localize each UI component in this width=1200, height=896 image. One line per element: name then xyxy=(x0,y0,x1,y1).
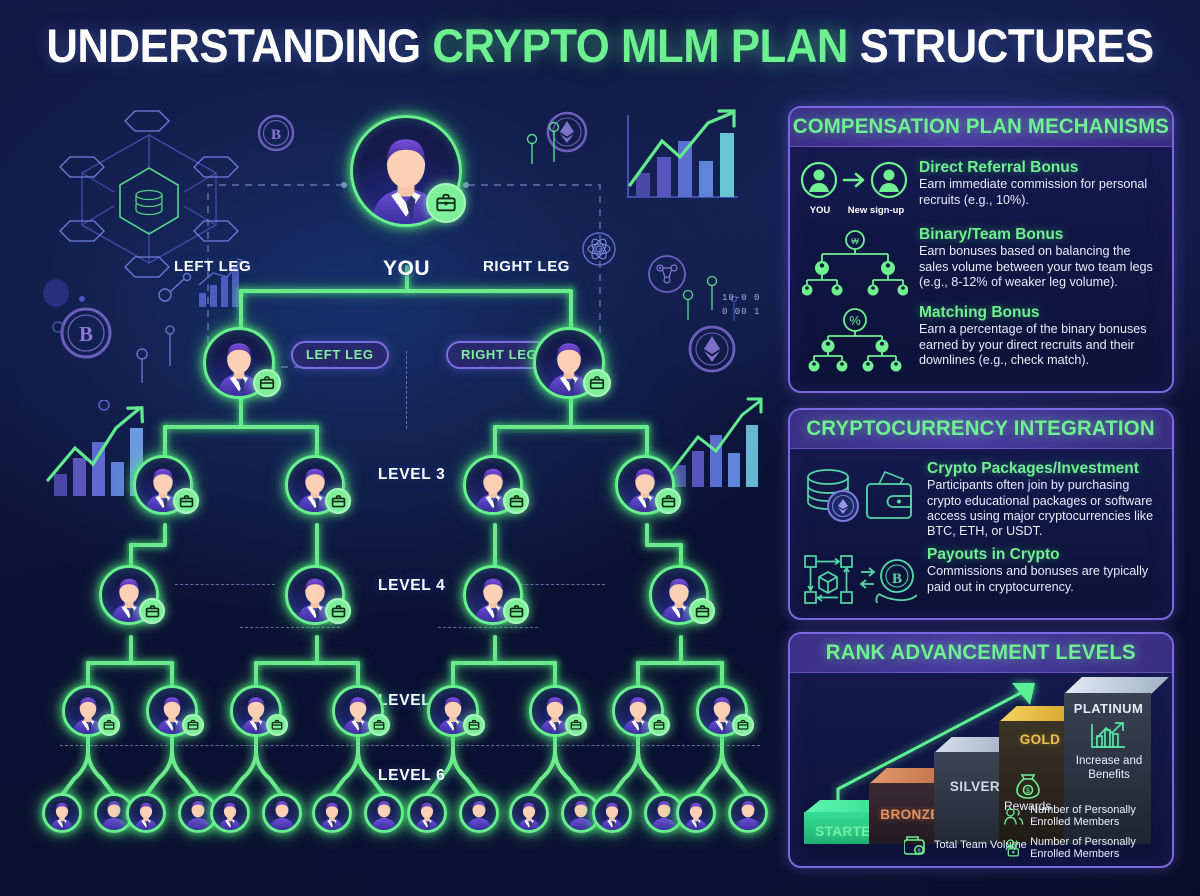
tree-node-level5-6[interactable] xyxy=(529,685,581,737)
tree-node-level5-4[interactable] xyxy=(332,685,384,737)
edge-l3n4-jog xyxy=(645,543,683,547)
edge-l3-n4-drop xyxy=(645,425,649,457)
panel-title: RANK ADVANCEMENT LEVELS xyxy=(826,641,1136,665)
tree-node-level6-8[interactable] xyxy=(364,793,404,833)
edge-l5-bus-3 xyxy=(451,661,557,665)
tree-node-level2-left[interactable] xyxy=(203,327,275,399)
avatar xyxy=(367,796,401,830)
volume-box-icon: $ xyxy=(904,834,928,856)
briefcase-badge xyxy=(689,598,715,624)
avatar xyxy=(731,796,765,830)
tree-node-you[interactable] xyxy=(350,115,462,227)
comp-item-heading: Matching Bonus xyxy=(919,304,1162,321)
comp-item-body: Earn a percentage of the binary bonuses … xyxy=(919,322,1162,368)
tree-node-level4-3[interactable] xyxy=(463,565,523,625)
briefcase-icon xyxy=(331,494,346,509)
briefcase-badge xyxy=(266,714,288,736)
edge-level2-bus xyxy=(239,289,573,293)
edge-l5n6-drop xyxy=(553,661,557,687)
rank-chart: STARTER BRONZE SILVER GOLD xyxy=(790,673,1172,859)
briefcase-icon xyxy=(331,604,346,619)
legend-label: Number of Personally Enrolled Members xyxy=(1030,804,1172,829)
comp-item-heading: Binary/Team Bonus xyxy=(919,226,1162,243)
node-ring xyxy=(592,793,632,833)
panel-title: COMPENSATION PLAN MECHANISMS xyxy=(793,115,1169,139)
growth-chart-decoration-top-right xyxy=(616,109,744,214)
platinum-note: Increase and Benefits xyxy=(1068,755,1150,783)
tree-node-level5-7[interactable] xyxy=(612,685,664,737)
briefcase-icon xyxy=(468,719,480,731)
edge-l5n5-drop xyxy=(451,661,455,687)
tree-node-level6-6[interactable] xyxy=(262,793,302,833)
node-ring xyxy=(262,793,302,833)
avatar xyxy=(679,796,713,830)
panel-title: CRYPTOCURRENCY INTEGRATION xyxy=(807,417,1155,441)
tree-node-level4-2[interactable] xyxy=(285,565,345,625)
right-leg-label: RIGHT LEG xyxy=(483,258,570,275)
page-title: UNDERSTANDING CRYPTO MLM PLAN STRUCTURES xyxy=(42,18,1158,73)
briefcase-badge xyxy=(325,488,351,514)
divider-level45-right xyxy=(438,627,538,628)
crypto-item-packages: Crypto Packages/Investment Participants … xyxy=(790,460,1172,540)
svg-text:₩: ₩ xyxy=(851,237,859,246)
bitcoin-coin-decoration-top: B xyxy=(256,113,296,153)
bitcoin-coin-decoration-left: B xyxy=(58,305,114,361)
level-3-label: LEVEL 3 xyxy=(378,466,446,484)
briefcase-badge xyxy=(503,488,529,514)
node-ring xyxy=(459,793,499,833)
tree-node-level5-2[interactable] xyxy=(146,685,198,737)
briefcase-icon xyxy=(737,719,749,731)
ethereum-coin-decoration-top xyxy=(545,110,589,154)
avatar xyxy=(129,796,163,830)
briefcase-badge xyxy=(463,714,485,736)
edge-l4n4-stem xyxy=(679,635,683,663)
panel-crypto-integration: CRYPTOCURRENCY INTEGRATION xyxy=(788,408,1174,620)
money-bag-icon: $ xyxy=(1014,773,1042,799)
pin-dots-decoration-right2 xyxy=(672,273,752,343)
edge-l3-right-bus xyxy=(493,425,649,429)
icon-caption-you: YOU xyxy=(800,205,840,216)
comp-item-text: Binary/Team Bonus Earn bonuses based on … xyxy=(919,226,1162,296)
tree-node-level6-11[interactable] xyxy=(509,793,549,833)
briefcase-icon xyxy=(187,719,199,731)
briefcase-icon xyxy=(145,604,160,619)
edge-l5-bus-2 xyxy=(254,661,360,665)
root-label: YOU xyxy=(383,257,430,281)
crypto-item-text: Payouts in Crypto Commissions and bonuse… xyxy=(927,546,1162,610)
svg-text:B: B xyxy=(271,127,281,143)
briefcase-badge xyxy=(732,714,754,736)
comp-item-heading: Direct Referral Bonus xyxy=(919,159,1162,176)
comp-item-binary-bonus: ₩ Binary/Team Bonus Earn bonuses based xyxy=(790,226,1172,296)
people-icon xyxy=(1004,803,1024,829)
briefcase-badge xyxy=(655,488,681,514)
panel-rank-advancement: RANK ADVANCEMENT LEVELS STARTER BRONZE xyxy=(788,632,1174,868)
edge-l3n1-stem xyxy=(163,523,167,545)
node-ring xyxy=(364,793,404,833)
edge-l5-bus-1 xyxy=(86,661,174,665)
comp-item-direct-referral: YOU New sign-up Direct Referral Bonus Ea… xyxy=(790,159,1172,216)
avatar xyxy=(265,796,299,830)
network-nodes-decoration xyxy=(646,253,688,295)
edge-l3n2-stem xyxy=(315,523,319,567)
briefcase-icon xyxy=(695,604,710,619)
avatar xyxy=(512,796,546,830)
comp-item-text: Direct Referral Bonus Earn immediate com… xyxy=(919,159,1162,216)
level-4-label: LEVEL 4 xyxy=(378,577,446,595)
edge-l5n1-drop xyxy=(86,661,90,687)
rank-legend-enrolled-members-1: Number of Personally Enrolled Members xyxy=(1004,803,1172,829)
tree-node-level6-9[interactable] xyxy=(407,793,447,833)
rank-legend-enrolled-members-2: Number of Personally Enrolled Members xyxy=(1004,835,1172,861)
crypto-item-heading: Crypto Packages/Investment xyxy=(927,460,1162,477)
crypto-item-body: Participants often join by purchasing cr… xyxy=(927,478,1162,539)
edge-l4n4-drop xyxy=(679,543,683,567)
growth-chart-icon xyxy=(1088,721,1128,751)
tree-node-level5-1[interactable] xyxy=(62,685,114,737)
ethereum-coin-decoration-right xyxy=(686,323,738,375)
briefcase-icon xyxy=(373,719,385,731)
briefcase-badge xyxy=(98,714,120,736)
node-ring xyxy=(312,793,352,833)
comp-item-body: Earn immediate commission for personal r… xyxy=(919,177,1162,208)
edge-l3-left-bus xyxy=(163,425,319,429)
edge-l3-n1-drop xyxy=(163,425,167,457)
tree-node-level3-3[interactable] xyxy=(463,455,523,515)
briefcase-icon xyxy=(570,719,582,731)
briefcase-badge xyxy=(565,714,587,736)
binary-code-decoration: 10-0 0 0 00 1 xyxy=(722,291,760,319)
tree-node-level3-2[interactable] xyxy=(285,455,345,515)
pin-dots-decoration-left2 xyxy=(128,320,204,390)
tree-node-level6-15[interactable] xyxy=(676,793,716,833)
tree-node-level4-1[interactable] xyxy=(99,565,159,625)
infographic-root: UNDERSTANDING CRYPTO MLM PLAN STRUCTURES xyxy=(0,0,1200,896)
tree-node-level2-right[interactable] xyxy=(533,327,605,399)
title-post: STRUCTURES xyxy=(848,19,1154,72)
left-leg-pill[interactable]: LEFT LEG xyxy=(291,341,389,369)
panel-header: CRYPTOCURRENCY INTEGRATION xyxy=(790,410,1172,449)
node-ring xyxy=(126,793,166,833)
crypto-item-heading: Payouts in Crypto xyxy=(927,546,1162,563)
svg-text:%: % xyxy=(849,313,861,328)
edge-l4n3-stem xyxy=(493,635,497,663)
panel-header: COMPENSATION PLAN MECHANISMS xyxy=(790,108,1172,147)
level-6-label: LEVEL 6 xyxy=(378,767,446,785)
briefcase-icon xyxy=(103,719,115,731)
comp-item-matching-bonus: % xyxy=(790,304,1172,372)
edge-l5n3-drop xyxy=(254,661,258,687)
briefcase-badge xyxy=(583,369,611,397)
left-leg-label: LEFT LEG xyxy=(174,258,251,275)
blockchain-exchange-hand-icon: B xyxy=(800,546,918,610)
edge-level2-right-drop xyxy=(569,289,573,329)
divider-level45-left xyxy=(240,627,340,628)
panel-header: RANK ADVANCEMENT LEVELS xyxy=(790,634,1172,673)
tree-node-level6-3[interactable] xyxy=(126,793,166,833)
two-persons-arrow-icon: YOU New sign-up xyxy=(800,159,910,216)
locked-people-icon xyxy=(1004,835,1024,861)
comp-item-text: Matching Bonus Earn a percentage of the … xyxy=(919,304,1162,372)
briefcase-icon xyxy=(661,494,676,509)
edge-l2r-stem xyxy=(569,395,573,427)
title-highlight: CRYPTO MLM PLAN xyxy=(432,19,848,72)
tree-node-level4-4[interactable] xyxy=(649,565,709,625)
comp-item-body: Earn bonuses based on balancing the sale… xyxy=(919,244,1162,290)
node-ring xyxy=(407,793,447,833)
legend-label: Number of Personally Enrolled Members xyxy=(1030,836,1172,861)
briefcase-badge xyxy=(325,598,351,624)
briefcase-badge xyxy=(139,598,165,624)
svg-text:B: B xyxy=(79,322,93,346)
edge-l3n3-stem xyxy=(493,523,497,567)
crypto-item-text: Crypto Packages/Investment Participants … xyxy=(927,460,1162,540)
tree-node-level6-16[interactable] xyxy=(728,793,768,833)
node-ring xyxy=(210,793,250,833)
briefcase-badge xyxy=(182,714,204,736)
tree-node-level5-5[interactable] xyxy=(427,685,479,737)
network-atom-decoration xyxy=(580,230,618,268)
tree-node-level6-7[interactable] xyxy=(312,793,352,833)
edge-l2l-stem xyxy=(239,395,243,427)
briefcase-badge xyxy=(503,598,529,624)
avatar xyxy=(213,796,247,830)
crypto-item-payouts: B Payouts in Crypto Commissions and bonu… xyxy=(790,546,1172,610)
panel-compensation: COMPENSATION PLAN MECHANISMS YOU New sig… xyxy=(788,106,1174,393)
briefcase-icon xyxy=(589,375,605,391)
edge-l5n7-drop xyxy=(636,661,640,687)
dot-markers-decoration-left xyxy=(36,275,106,345)
tree-node-level6-13[interactable] xyxy=(592,793,632,833)
growth-chart-decoration-right xyxy=(660,395,770,495)
avatar xyxy=(315,796,349,830)
briefcase-badge xyxy=(253,369,281,397)
briefcase-icon xyxy=(435,192,457,214)
node-ring xyxy=(42,793,82,833)
tree-node-level6-1[interactable] xyxy=(42,793,82,833)
svg-text:B: B xyxy=(892,571,902,587)
edge-l3-n3-drop xyxy=(493,425,497,457)
mlm-tree-diagram: B B xyxy=(0,95,780,895)
briefcase-badge xyxy=(368,714,390,736)
edge-l3-n2-drop xyxy=(315,425,319,457)
percent-tree-icon: % xyxy=(800,304,910,372)
edge-l5n4-drop xyxy=(356,661,360,687)
coins-wallet-icon xyxy=(800,460,918,540)
svg-text:$: $ xyxy=(1026,788,1030,795)
edge-l4n1-stem xyxy=(129,635,133,663)
avatar xyxy=(410,796,444,830)
node-ring xyxy=(728,793,768,833)
edge-level2-left-drop xyxy=(239,289,243,329)
edge-l5n2-drop xyxy=(170,661,174,687)
divider-level4-left xyxy=(175,584,275,585)
briefcase-icon xyxy=(259,375,275,391)
briefcase-badge xyxy=(426,183,466,223)
briefcase-icon xyxy=(179,494,194,509)
briefcase-icon xyxy=(653,719,665,731)
tree-node-level6-10[interactable] xyxy=(459,793,499,833)
binary-tree-icon: ₩ xyxy=(800,226,910,296)
node-ring xyxy=(509,793,549,833)
edge-l4n2-stem xyxy=(315,635,319,663)
avatar xyxy=(45,796,79,830)
step-top xyxy=(1064,677,1169,694)
edge-l3n1-jog xyxy=(129,543,167,547)
divider-level5 xyxy=(60,745,760,746)
briefcase-icon xyxy=(509,494,524,509)
avatar xyxy=(595,796,629,830)
crypto-item-body: Commissions and bonuses are typically pa… xyxy=(927,564,1162,595)
briefcase-badge xyxy=(173,488,199,514)
avatar xyxy=(462,796,496,830)
briefcase-badge xyxy=(648,714,670,736)
step-label: PLATINUM xyxy=(1062,701,1155,716)
tree-node-level3-4[interactable] xyxy=(615,455,675,515)
edge-l5n8-drop xyxy=(720,661,724,687)
briefcase-icon xyxy=(509,604,524,619)
tree-node-level5-8[interactable] xyxy=(696,685,748,737)
pin-dots-decoration-right xyxy=(520,115,590,175)
node-ring xyxy=(676,793,716,833)
edge-l3n4-stem xyxy=(645,523,649,545)
icon-caption-new-signup: New sign-up xyxy=(842,205,910,216)
divider-center-vertical xyxy=(406,351,407,429)
tree-node-level6-5[interactable] xyxy=(210,793,250,833)
edge-l5-bus-4 xyxy=(636,661,724,665)
briefcase-icon xyxy=(271,719,283,731)
tree-node-level3-1[interactable] xyxy=(133,455,193,515)
title-pre: UNDERSTANDING xyxy=(46,19,432,72)
edge-l4n1-drop xyxy=(129,543,133,567)
tree-node-level5-3[interactable] xyxy=(230,685,282,737)
